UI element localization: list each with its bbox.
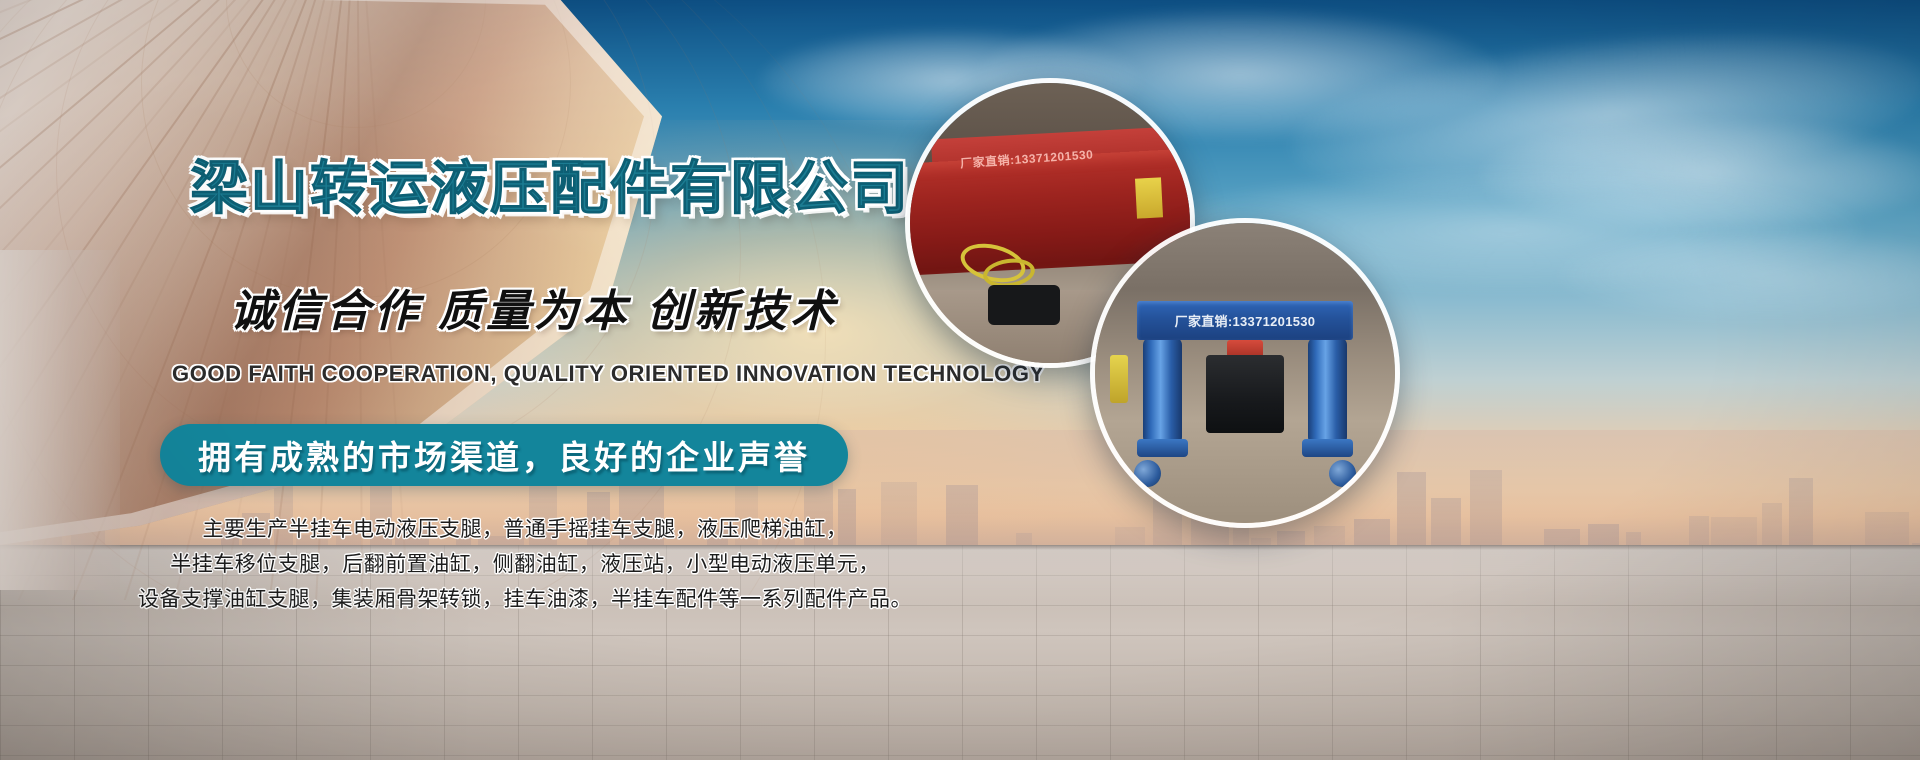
hydraulic-leg bbox=[1308, 337, 1347, 445]
slogan-chinese: 诚信合作 质量为本 创新技术 bbox=[230, 288, 838, 336]
description-paragraph: 主要生产半挂车电动液压支腿，普通手摇挂车支腿，液压爬梯油缸， 半挂车移位支腿，后… bbox=[130, 512, 920, 617]
leg-foot-plate bbox=[1137, 439, 1188, 457]
product-photo-blue-content: 厂家直销:13371201530 bbox=[1095, 223, 1395, 523]
company-title: 梁山转运液压配件有限公司 bbox=[190, 160, 910, 218]
hero-banner: 梁山转运液压配件有限公司 诚信合作 质量为本 创新技术 GOOD FAITH C… bbox=[0, 0, 1920, 760]
caster-wheel bbox=[1329, 460, 1356, 487]
highlight-pill-text: 拥有成熟的市场渠道，良好的企业声誉 bbox=[198, 431, 810, 479]
machine-warning-sticker bbox=[1135, 178, 1163, 219]
leg-foot-plate bbox=[1302, 439, 1353, 457]
description-line: 主要生产半挂车电动液压支腿，普通手摇挂车支腿，液压爬梯油缸， bbox=[130, 512, 920, 547]
hydraulic-leg bbox=[1143, 337, 1182, 445]
machine-phone-label: 厂家直销:13371201530 bbox=[1137, 301, 1353, 340]
caster-wheel bbox=[1134, 460, 1161, 487]
power-unit-box bbox=[1206, 355, 1284, 433]
description-line: 设备支撑油缸支腿，集装厢骨架转锁，挂车油漆，半挂车配件等一系列配件产品。 bbox=[130, 582, 920, 617]
slogan-english: GOOD FAITH COOPERATION, QUALITY ORIENTED… bbox=[172, 362, 1045, 386]
description-line: 半挂车移位支腿，后翻前置油缸，侧翻油缸，液压站，小型电动液压单元， bbox=[130, 547, 920, 582]
headline-block: 梁山转运液压配件有限公司 诚信合作 质量为本 创新技术 GOOD FAITH C… bbox=[0, 0, 1040, 760]
product-photo-blue: 厂家直销:13371201530 bbox=[1090, 218, 1400, 528]
machine-yellow-part bbox=[1110, 355, 1128, 403]
power-unit-box bbox=[988, 285, 1060, 325]
highlight-pill: 拥有成熟的市场渠道，良好的企业声誉 bbox=[160, 424, 848, 486]
